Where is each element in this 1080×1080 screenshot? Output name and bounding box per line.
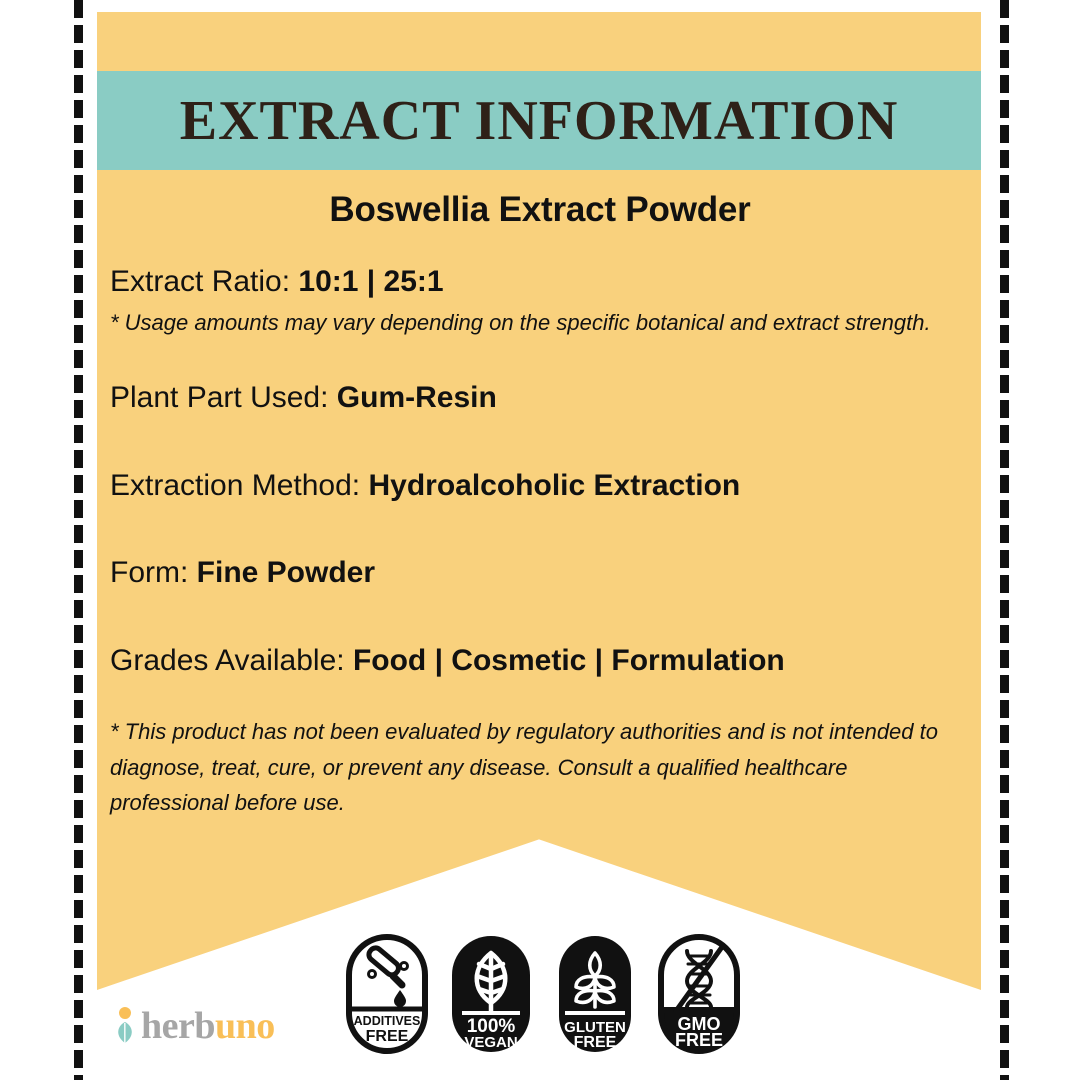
logo-text-uno: uno <box>215 1007 275 1045</box>
spacer <box>110 416 970 468</box>
badge-additives-free: ADDITIVES FREE <box>345 933 429 1055</box>
spacer <box>110 591 970 643</box>
badge-100-vegan: 100% VEGAN <box>449 933 533 1055</box>
product-name: Boswellia Extract Powder <box>110 190 970 230</box>
spec-form-label: Form: <box>110 556 197 589</box>
spec-extraction-method-value: Hydroalcoholic Extraction <box>368 469 740 502</box>
content-area: Boswellia Extract Powder Extract Ratio: … <box>110 190 970 821</box>
certification-badges: ADDITIVES FREE 100% VEGAN <box>345 933 741 1055</box>
badge-gmo-free: GMO FREE <box>657 933 741 1055</box>
spec-plant-part-label: Plant Part Used: <box>110 381 337 414</box>
title-band: EXTRACT INFORMATION <box>97 71 981 170</box>
badge-additives-line1: ADDITIVES <box>354 1014 421 1028</box>
dashed-border-left <box>74 0 83 1080</box>
spec-extraction-method: Extraction Method: Hydroalcoholic Extrac… <box>110 468 970 503</box>
spec-grades-available-label: Grades Available: <box>110 644 353 677</box>
dashed-border-right <box>1000 0 1009 1080</box>
spec-grades-available-value: Food | Cosmetic | Formulation <box>353 644 785 677</box>
usage-note: * Usage amounts may vary depending on th… <box>110 306 950 340</box>
spec-plant-part-value: Gum-Resin <box>337 381 497 414</box>
spec-plant-part: Plant Part Used: Gum-Resin <box>110 380 970 415</box>
spec-grades-available: Grades Available: Food | Cosmetic | Form… <box>110 643 970 678</box>
badge-gluten-free: GLUTEN FREE <box>553 933 637 1055</box>
spec-form: Form: Fine Powder <box>110 555 970 590</box>
spec-extract-ratio-label: Extract Ratio: <box>110 265 298 298</box>
disclaimer-note: * This product has not been evaluated by… <box>110 714 958 821</box>
spacer <box>110 503 970 555</box>
spec-form-value: Fine Powder <box>197 556 375 589</box>
spec-extract-ratio-value: 10:1 | 25:1 <box>298 265 443 298</box>
logo-text-herb: herb <box>141 1007 215 1045</box>
spec-extraction-method-label: Extraction Method: <box>110 469 368 502</box>
extract-information-card: EXTRACT INFORMATION Boswellia Extract Po… <box>0 0 1080 1080</box>
badge-gluten-line2: FREE <box>574 1034 617 1051</box>
herbuno-leaf-icon <box>112 1006 138 1046</box>
brand-logo: herbuno <box>112 1004 275 1048</box>
page-title: EXTRACT INFORMATION <box>180 89 899 153</box>
badge-additives-line2: FREE <box>366 1028 409 1045</box>
spec-extract-ratio: Extract Ratio: 10:1 | 25:1 <box>110 264 970 299</box>
badge-vegan-line2: VEGAN <box>464 1034 517 1051</box>
badge-gmo-line2: FREE <box>675 1030 723 1050</box>
spacer <box>110 340 970 380</box>
